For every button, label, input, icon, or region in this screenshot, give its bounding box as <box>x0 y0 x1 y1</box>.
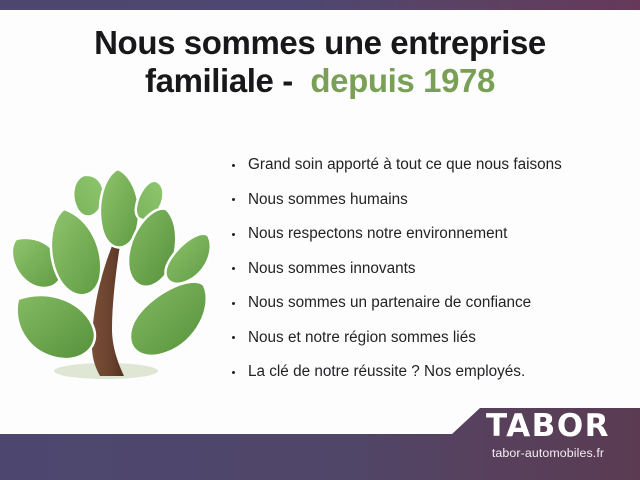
list-item-label: Nous sommes humains <box>248 191 408 208</box>
bullet-dot-icon <box>232 233 235 236</box>
bullet-dot-icon <box>232 371 235 374</box>
list-item: Nous sommes humains <box>231 183 631 218</box>
title-line-2-prefix: familiale <box>145 62 273 99</box>
list-item-label: La clé de notre réussite ? Nos employés. <box>248 363 525 380</box>
list-item-label: Nous sommes un partenaire de confiance <box>248 294 531 311</box>
bullet-dot-icon <box>232 336 235 339</box>
bullet-dot-icon <box>232 164 235 167</box>
title-line-1: Nous sommes une entreprise <box>0 24 640 62</box>
bullet-dot-icon <box>232 302 235 305</box>
list-item: Nous sommes un partenaire de confiance <box>231 286 631 321</box>
brand-logo[interactable]: TABOR tabor-automobiles.fr <box>468 411 628 459</box>
list-item-label: Nous respectons notre environnement <box>248 225 507 242</box>
leaf-right-lower <box>130 282 207 356</box>
title-dash-glyph: - <box>282 62 293 99</box>
list-item: La clé de notre réussite ? Nos employés. <box>231 355 631 390</box>
page-title: Nous sommes une entreprise familiale - d… <box>0 24 640 101</box>
list-item-label: Nous sommes innovants <box>248 260 416 277</box>
title-dash <box>274 62 283 99</box>
value-proposition-list: Grand soin apporté à tout ce que nous fa… <box>231 148 631 390</box>
title-spacer <box>293 62 311 99</box>
slide-canvas: Nous sommes une entreprise familiale - d… <box>0 0 640 480</box>
brand-wordmark: TABOR <box>468 411 628 442</box>
leaf-left-lower <box>17 295 95 359</box>
tree-illustration <box>8 143 220 388</box>
list-item: Nous respectons notre environnement <box>231 217 631 252</box>
title-accent: depuis 1978 <box>310 62 495 99</box>
title-line-2: familiale - depuis 1978 <box>0 62 640 100</box>
list-item-label: Grand soin apporté à tout ce que nous fa… <box>248 156 562 173</box>
list-item-label: Nous et notre région sommes liés <box>248 329 476 346</box>
brand-url: tabor-automobiles.fr <box>468 447 628 459</box>
bullet-dot-icon <box>232 267 235 270</box>
list-item: Nous et notre région sommes liés <box>231 321 631 356</box>
list-item: Nous sommes innovants <box>231 252 631 287</box>
top-accent-strip <box>0 0 640 10</box>
bullet-dot-icon <box>232 198 235 201</box>
list-item: Grand soin apporté à tout ce que nous fa… <box>231 148 631 183</box>
